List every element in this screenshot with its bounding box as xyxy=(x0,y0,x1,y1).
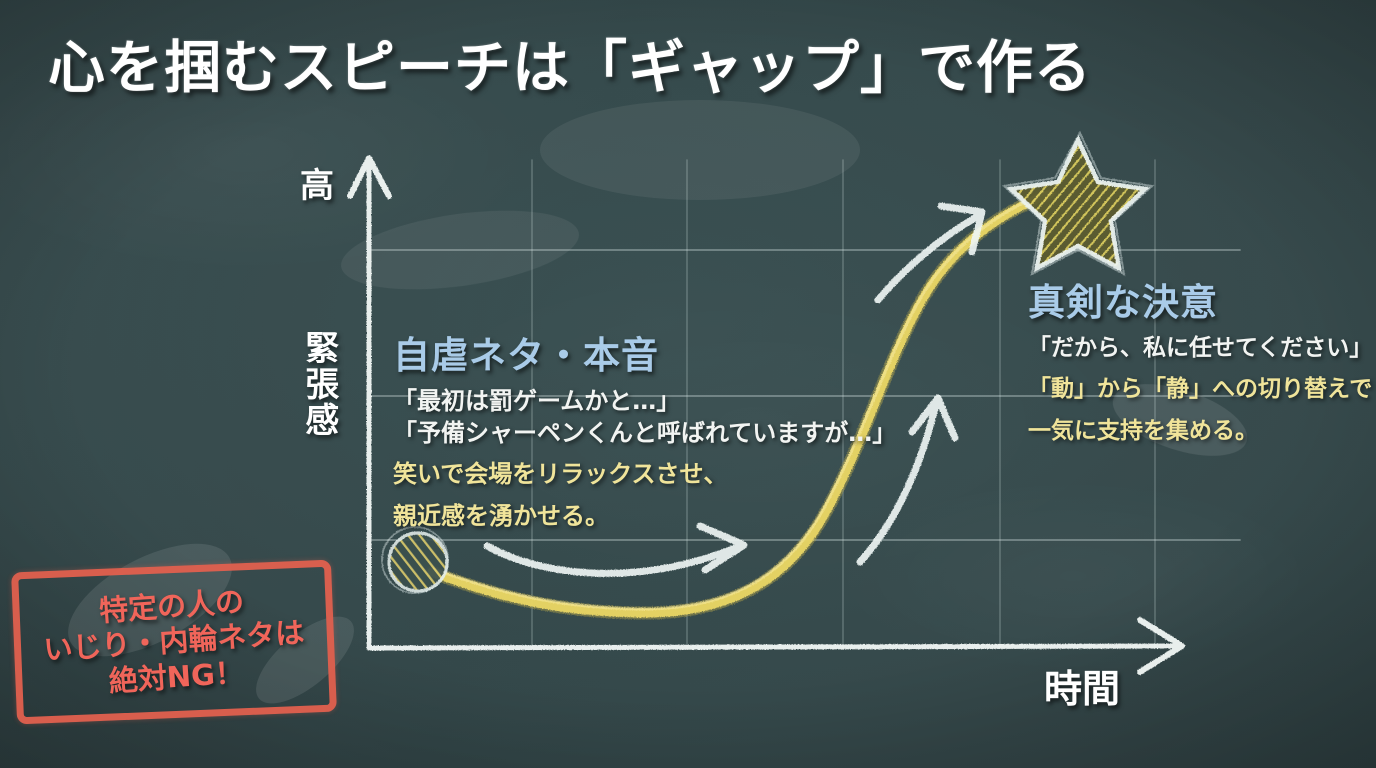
annotation-right-quote-1: 「だから、私に任せてください」 xyxy=(1028,333,1372,363)
y-axis-label: 緊張感 xyxy=(300,330,337,438)
warning-line-3: 絶対NG！ xyxy=(108,656,245,699)
warning-box: 特定の人の いじり・内輪ネタは 絶対NG！ xyxy=(11,560,337,725)
annotation-left-heading: 自虐ネタ・本音 xyxy=(393,325,896,379)
warning-box-text: 特定の人の いじり・内輪ネタは 絶対NG！ xyxy=(9,555,339,728)
slide-canvas: 心を掴むスピーチは「ギャップ」で作る 高 緊張感 時間 自虐ネタ・本音 「最初は… xyxy=(0,0,1376,768)
annotation-left-note-2: 親近感を湧かせる。 xyxy=(393,501,896,532)
annotation-left-quote-2: 「予備シャーペンくんと呼ばれていますが…」 xyxy=(393,418,896,450)
annotation-right: 真剣な決意 「だから、私に任せてください」 「動」から「静」への切り替えで 一気… xyxy=(1028,272,1372,447)
annotation-right-heading: 真剣な決意 xyxy=(1028,272,1372,326)
annotation-left-note-1: 笑いで会場をリラックスさせ、 xyxy=(393,459,896,490)
annotation-left-quote-1: 「最初は罰ゲームかと…」 xyxy=(393,386,896,418)
page-title: 心を掴むスピーチは「ギャップ」で作る xyxy=(48,22,1092,104)
annotation-right-note-2: 一気に支持を集める。 xyxy=(1028,417,1372,447)
y-axis-top-label: 高 xyxy=(300,158,334,207)
annotation-right-note-1: 「動」から「静」への切り替えで xyxy=(1028,375,1372,405)
annotation-left: 自虐ネタ・本音 「最初は罰ゲームかと…」 「予備シャーペンくんと呼ばれていますが… xyxy=(393,325,896,532)
x-axis-label: 時間 xyxy=(1044,658,1120,713)
